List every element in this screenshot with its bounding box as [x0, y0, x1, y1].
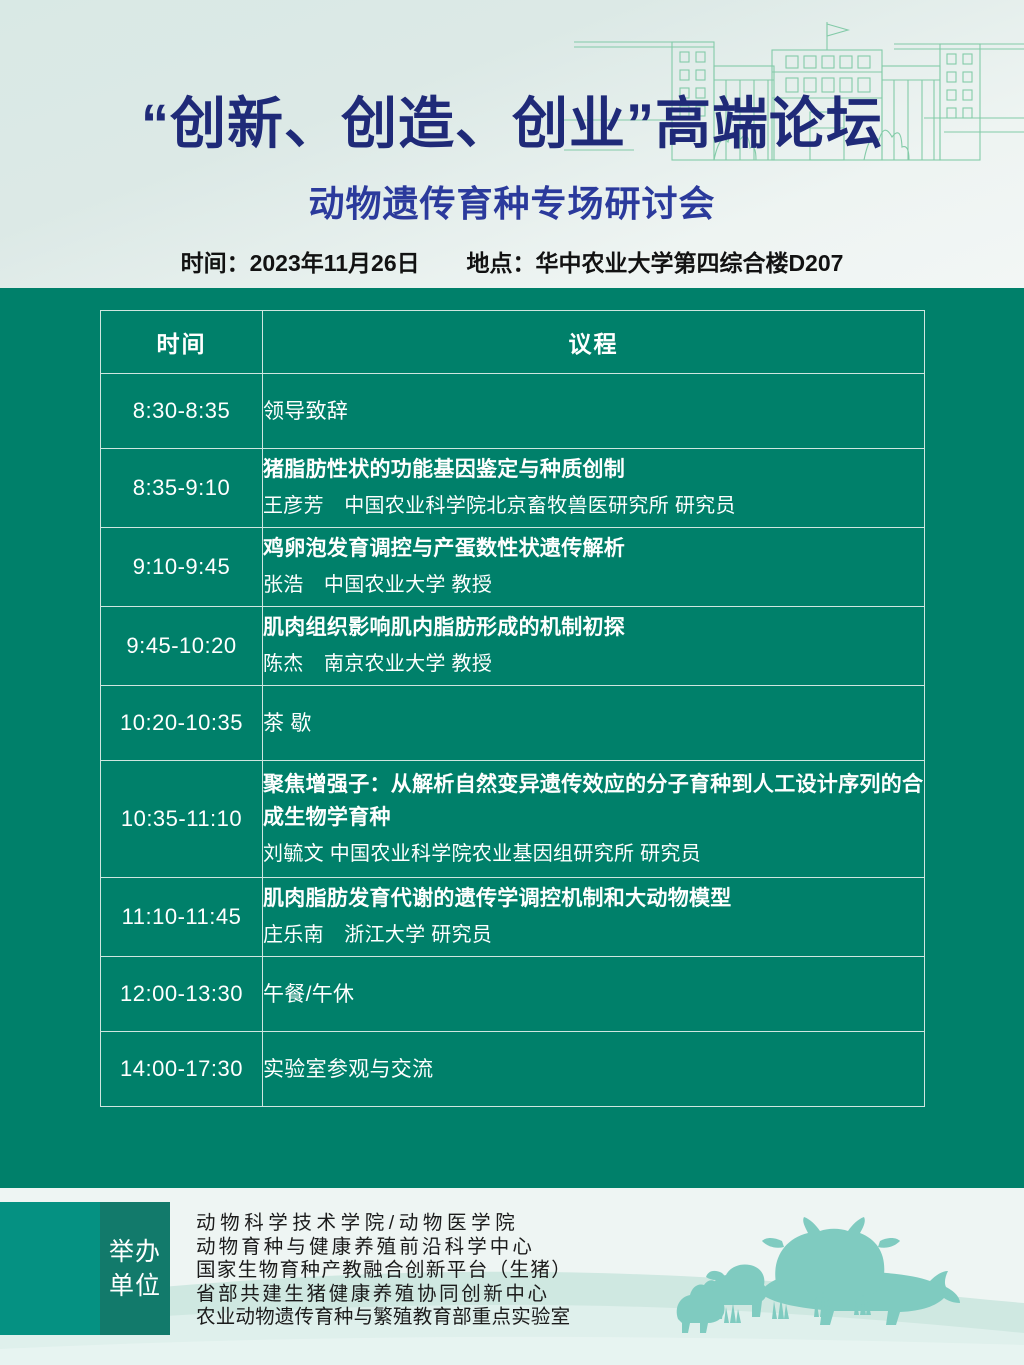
- table-row: 9:10-9:45 鸡卵泡发育调控与产蛋数性状遗传解析 张浩 中国农业大学 教授: [101, 528, 925, 607]
- poster-footer: 举办 单位 动物科学技术学院/动物医学院 动物育种与健康养殖前沿科学中心 国家生…: [0, 1188, 1024, 1365]
- agenda-table-body: 8:30-8:35 领导致辞 8:35-9:10 猪脂肪性状的功能基因鉴定与种质…: [101, 374, 925, 1107]
- session-title: 午餐/午休: [263, 978, 924, 1011]
- cell-time: 12:00-13:30: [101, 957, 263, 1032]
- cell-agenda: 肌肉组织影响肌内脂肪形成的机制初探 陈杰 南京农业大学 教授: [263, 607, 925, 686]
- list-item: 农业动物遗传育种与繁殖教育部重点实验室: [196, 1306, 572, 1330]
- agenda-table: 时间 议程 8:30-8:35 领导致辞 8:35-9:10 猪脂肪性状的功能基…: [100, 310, 925, 1107]
- table-row: 10:20-10:35 茶 歇: [101, 686, 925, 761]
- cell-agenda: 实验室参观与交流: [263, 1032, 925, 1107]
- session-speaker: 陈杰 南京农业大学 教授: [263, 648, 924, 681]
- table-row: 8:30-8:35 领导致辞: [101, 374, 925, 449]
- cell-time: 9:10-9:45: [101, 528, 263, 607]
- session-speaker: 张浩 中国农业大学 教授: [263, 569, 924, 602]
- session-speaker: 王彦芳 中国农业科学院北京畜牧兽医研究所 研究员: [263, 490, 924, 523]
- livestock-silhouette-icon: [664, 1213, 994, 1343]
- table-row: 9:45-10:20 肌肉组织影响肌内脂肪形成的机制初探 陈杰 南京农业大学 教…: [101, 607, 925, 686]
- session-title: 领导致辞: [263, 395, 924, 428]
- cell-agenda: 聚焦增强子：从解析自然变异遗传效应的分子育种到人工设计序列的合成生物学育种 刘毓…: [263, 761, 925, 878]
- table-row: 12:00-13:30 午餐/午休: [101, 957, 925, 1032]
- cell-time: 8:30-8:35: [101, 374, 263, 449]
- session-title: 茶 歇: [263, 707, 924, 740]
- session-speaker: 刘毓文 中国农业科学院农业基因组研究所 研究员: [263, 838, 924, 871]
- poster-header: “创新、创造、创业”高端论坛 动物遗传育种专场研讨会 时间：2023年11月26…: [0, 0, 1024, 288]
- session-speaker: 庄乐南 浙江大学 研究员: [263, 919, 924, 952]
- session-title: 聚焦增强子：从解析自然变异遗传效应的分子育种到人工设计序列的合成生物学育种: [263, 768, 924, 834]
- table-row: 10:35-11:10 聚焦增强子：从解析自然变异遗传效应的分子育种到人工设计序…: [101, 761, 925, 878]
- table-header-row: 时间 议程: [101, 311, 925, 374]
- organizer-badge-line-2: 单位: [109, 1269, 161, 1303]
- organizer-badge-light-panel: [0, 1202, 100, 1335]
- poster-subtitle: 动物遗传育种专场研讨会: [0, 182, 1024, 226]
- meta-place: 地点：华中农业大学第四综合楼D207: [466, 250, 843, 276]
- poster-root: “创新、创造、创业”高端论坛 动物遗传育种专场研讨会 时间：2023年11月26…: [0, 0, 1024, 1365]
- cell-agenda: 肌肉脂肪发育代谢的遗传学调控机制和大动物模型 庄乐南 浙江大学 研究员: [263, 878, 925, 957]
- cell-agenda: 茶 歇: [263, 686, 925, 761]
- cell-time: 11:10-11:45: [101, 878, 263, 957]
- organizer-badge-label: 举办 单位: [100, 1202, 170, 1335]
- cell-agenda: 猪脂肪性状的功能基因鉴定与种质创制 王彦芳 中国农业科学院北京畜牧兽医研究所 研…: [263, 449, 925, 528]
- column-header-time: 时间: [101, 311, 263, 374]
- meta-time: 时间：2023年11月26日: [181, 250, 420, 276]
- poster-meta: 时间：2023年11月26日 地点：华中农业大学第四综合楼D207: [0, 248, 1024, 278]
- cell-time: 14:00-17:30: [101, 1032, 263, 1107]
- list-item: 国家生物育种产教融合创新平台（生猪）: [196, 1259, 572, 1283]
- column-header-agenda: 议程: [263, 311, 925, 374]
- organizer-badge: 举办 单位: [0, 1202, 170, 1335]
- session-title: 猪脂肪性状的功能基因鉴定与种质创制: [263, 453, 924, 486]
- cell-time: 8:35-9:10: [101, 449, 263, 528]
- session-title: 鸡卵泡发育调控与产蛋数性状遗传解析: [263, 532, 924, 565]
- cell-time: 10:35-11:10: [101, 761, 263, 878]
- cell-time: 10:20-10:35: [101, 686, 263, 761]
- organizer-badge-line-1: 举办: [109, 1235, 161, 1269]
- table-row: 11:10-11:45 肌肉脂肪发育代谢的遗传学调控机制和大动物模型 庄乐南 浙…: [101, 878, 925, 957]
- organizer-list: 动物科学技术学院/动物医学院 动物育种与健康养殖前沿科学中心 国家生物育种产教融…: [196, 1212, 572, 1330]
- table-row: 8:35-9:10 猪脂肪性状的功能基因鉴定与种质创制 王彦芳 中国农业科学院北…: [101, 449, 925, 528]
- list-item: 动物科学技术学院/动物医学院: [196, 1212, 572, 1236]
- cell-agenda: 鸡卵泡发育调控与产蛋数性状遗传解析 张浩 中国农业大学 教授: [263, 528, 925, 607]
- cell-time: 9:45-10:20: [101, 607, 263, 686]
- session-title: 肌肉脂肪发育代谢的遗传学调控机制和大动物模型: [263, 882, 924, 915]
- cell-agenda: 领导致辞: [263, 374, 925, 449]
- list-item: 省部共建生猪健康养殖协同创新中心: [196, 1283, 572, 1307]
- poster-title: “创新、创造、创业”高端论坛: [0, 92, 1024, 156]
- session-title: 实验室参观与交流: [263, 1053, 924, 1086]
- list-item: 动物育种与健康养殖前沿科学中心: [196, 1236, 572, 1260]
- table-row: 14:00-17:30 实验室参观与交流: [101, 1032, 925, 1107]
- session-title: 肌肉组织影响肌内脂肪形成的机制初探: [263, 611, 924, 644]
- cell-agenda: 午餐/午休: [263, 957, 925, 1032]
- agenda-section: 时间 议程 8:30-8:35 领导致辞 8:35-9:10 猪脂肪性状的功能基…: [0, 288, 1024, 1188]
